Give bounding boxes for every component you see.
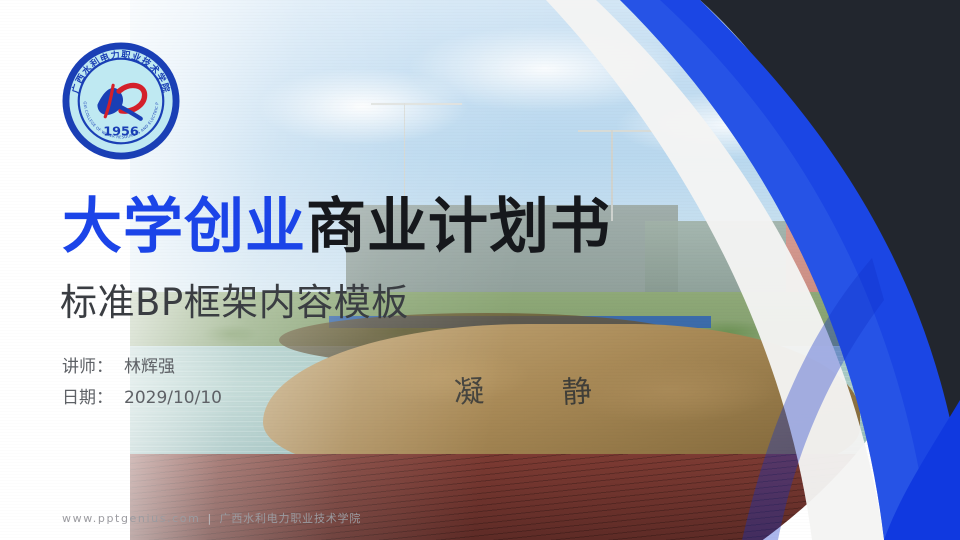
date-label: 日期： — [62, 383, 124, 414]
footer-url[interactable]: www.pptgenius.com — [62, 512, 200, 525]
footer-separator: | — [207, 512, 212, 525]
title-accent-part: 大学创业 — [62, 192, 306, 262]
logo-year: 1956 — [103, 124, 139, 139]
logo-emblem-icon: 广西水利电力职业技术学院 GUANGXI COLLEGE OF WATER RE… — [62, 42, 180, 160]
presenter-label: 讲师： — [62, 352, 124, 383]
page-subtitle: 标准BP框架内容模板 — [60, 272, 409, 326]
meta-row-presenter: 讲师：林辉强 — [62, 352, 222, 383]
footer: www.pptgenius.com|广西水利电力职业技术学院 — [62, 510, 361, 526]
blue-block-lower — [884, 400, 960, 540]
meta-block: 讲师：林辉强 日期：2029/10/10 — [62, 352, 222, 414]
title-dark-part: 商业计划书 — [306, 192, 611, 262]
cover-slide: 凝 静 — [0, 0, 960, 540]
meta-row-date: 日期：2029/10/10 — [62, 383, 222, 414]
footer-organization: 广西水利电力职业技术学院 — [220, 512, 362, 525]
page-title: 大学创业商业计划书 — [62, 196, 611, 260]
university-logo: 广西水利电力职业技术学院 GUANGXI COLLEGE OF WATER RE… — [62, 42, 180, 160]
presenter-value: 林辉强 — [124, 357, 175, 377]
date-value: 2029/10/10 — [124, 388, 222, 408]
